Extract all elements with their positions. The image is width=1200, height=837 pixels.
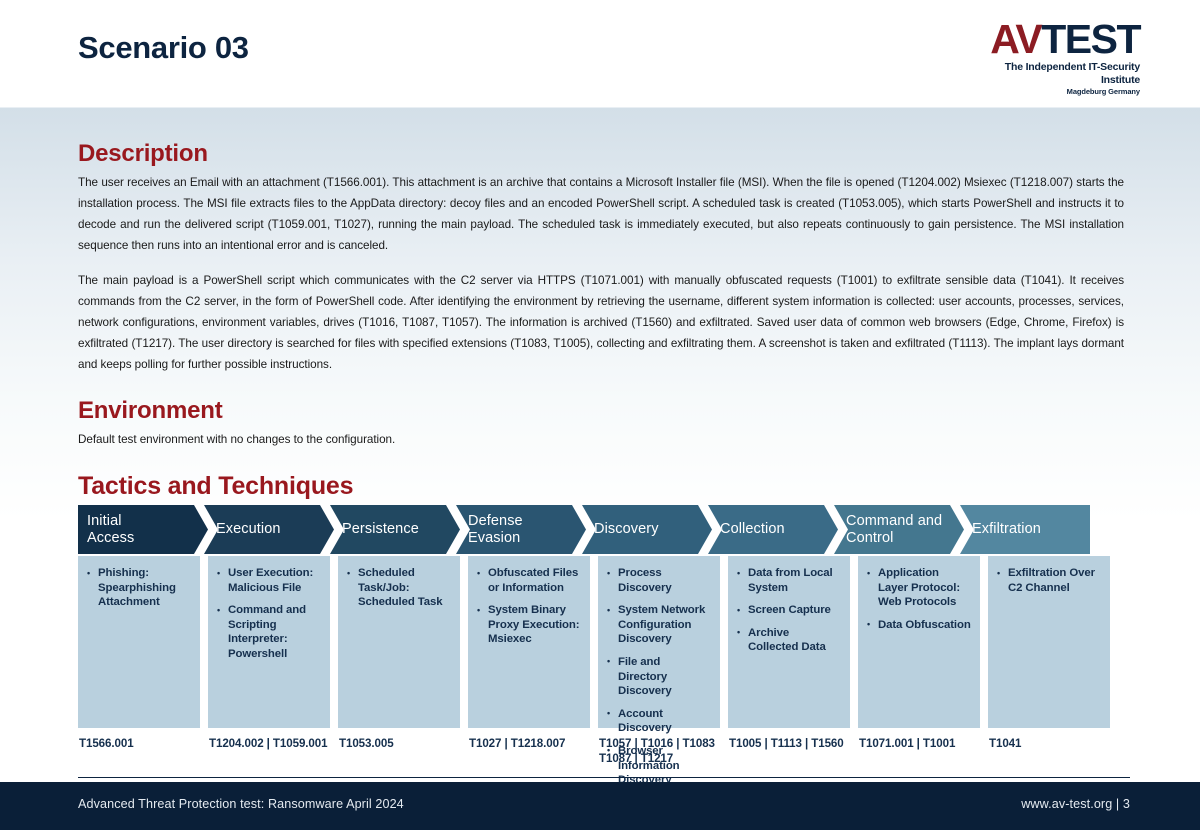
tactic-banner-defense-evasion: Defense Evasion [456, 505, 586, 554]
technique-list: User Execution: Malicious FileCommand an… [217, 566, 321, 662]
techniques-column: User Execution: Malicious FileCommand an… [208, 556, 330, 728]
tactics-and-techniques-table: Initial AccessExecutionPersistenceDefens… [78, 505, 1130, 774]
report-page: Scenario 03 AVTEST The Independent IT-Se… [0, 0, 1200, 837]
technique-item: System Binary Proxy Execution: Msiexec [477, 603, 581, 647]
techniques-column: Data from Local SystemScreen CaptureArch… [728, 556, 850, 728]
techniques-column: Obfuscated Files or InformationSystem Bi… [468, 556, 590, 728]
logo-av-text: AV [990, 16, 1041, 62]
tactic-banner-discovery: Discovery [582, 505, 712, 554]
technique-list: Data from Local SystemScreen CaptureArch… [737, 566, 841, 655]
spacer [78, 375, 1124, 397]
footer-bottom-strip [0, 830, 1200, 837]
technique-list: Application Layer Protocol: Web Protocol… [867, 566, 971, 632]
page-footer: Advanced Threat Protection test: Ransomw… [0, 782, 1200, 830]
environment-heading: Environment [78, 397, 1124, 425]
technique-item: Process Discovery [607, 566, 711, 595]
column-gap [850, 556, 858, 728]
tactics-banner-row: Initial AccessExecutionPersistenceDefens… [78, 505, 1130, 554]
tactic-banner-command-and-control: Command and Control [834, 505, 964, 554]
tactic-banner-label: Persistence [342, 521, 419, 538]
technique-item: File and Directory Discovery [607, 655, 711, 699]
tactic-banner-label: Initial Access [87, 513, 134, 546]
technique-ids: T1027 | T1218.007 [468, 736, 590, 774]
technique-list: Exfiltration Over C2 Channel [997, 566, 1101, 595]
technique-list: Phishing: Spearphishing Attachment [87, 566, 191, 610]
technique-list: Obfuscated Files or InformationSystem Bi… [477, 566, 581, 647]
column-gap [200, 556, 208, 728]
av-test-logo: AVTEST The Independent IT-Security Insti… [965, 18, 1140, 97]
tactic-banner-label: Execution [216, 521, 281, 538]
footer-url-page[interactable]: www.av-test.org | 3 [1021, 797, 1130, 811]
logo-test-text: TEST [1041, 16, 1140, 62]
tactic-banner-initial-access: Initial Access [78, 505, 208, 554]
id-gap [980, 736, 988, 774]
tactic-banner-persistence: Persistence [330, 505, 460, 554]
technique-item: Data from Local System [737, 566, 841, 595]
spacer [78, 450, 1124, 472]
technique-item: System Network Configuration Discovery [607, 603, 711, 647]
page-title: Scenario 03 [78, 30, 249, 66]
column-gap [330, 556, 338, 728]
logo-tagline: The Independent IT-Security Institute [965, 61, 1140, 87]
technique-list: Scheduled Task/Job: Scheduled Task [347, 566, 451, 610]
tactic-banner-exfiltration: Exfiltration [960, 505, 1090, 554]
id-gap [720, 736, 728, 774]
technique-ids: T1566.001 [78, 736, 200, 774]
technique-ids: T1041 [988, 736, 1110, 774]
environment-text: Default test environment with no changes… [78, 429, 1124, 450]
description-paragraph-1: The user receives an Email with an attac… [78, 172, 1124, 256]
id-gap [330, 736, 338, 774]
tactic-banner-label: Command and Control [846, 513, 942, 546]
technique-item: User Execution: Malicious File [217, 566, 321, 595]
tactics-heading: Tactics and Techniques [78, 472, 1124, 501]
technique-item: Archive Collected Data [737, 626, 841, 655]
tactic-banner-label: Exfiltration [972, 521, 1041, 538]
footer-test-name: Advanced Threat Protection test: Ransomw… [78, 797, 404, 811]
column-gap [460, 556, 468, 728]
techniques-column: Application Layer Protocol: Web Protocol… [858, 556, 980, 728]
technique-ids-row: T1566.001T1204.002 | T1059.001T1053.005T… [78, 736, 1130, 774]
technique-ids: T1005 | T1113 | T1560 [728, 736, 850, 774]
technique-item: Data Obfuscation [867, 618, 971, 633]
tactic-banner-label: Collection [720, 521, 785, 538]
tactic-banner-execution: Execution [204, 505, 334, 554]
logo-location: Magdeburg Germany [965, 87, 1140, 97]
logo-wordmark: AVTEST [965, 18, 1140, 60]
techniques-columns-row: Phishing: Spearphishing AttachmentUser E… [78, 556, 1130, 728]
description-heading: Description [78, 140, 1124, 168]
id-gap [850, 736, 858, 774]
technique-item: Phishing: Spearphishing Attachment [87, 566, 191, 610]
technique-ids: T1053.005 [338, 736, 460, 774]
description-paragraph-2: The main payload is a PowerShell script … [78, 270, 1124, 375]
tactic-banner-label: Defense Evasion [468, 513, 523, 546]
technique-item: Screen Capture [737, 603, 841, 618]
column-gap [590, 556, 598, 728]
technique-item: Scheduled Task/Job: Scheduled Task [347, 566, 451, 610]
table-bottom-rule [78, 777, 1130, 778]
id-gap [460, 736, 468, 774]
technique-ids: T1204.002 | T1059.001 [208, 736, 330, 774]
column-gap [980, 556, 988, 728]
page-header: Scenario 03 AVTEST The Independent IT-Se… [0, 0, 1200, 107]
techniques-column: Phishing: Spearphishing Attachment [78, 556, 200, 728]
technique-item: Application Layer Protocol: Web Protocol… [867, 566, 971, 610]
technique-ids: T1071.001 | T1001 [858, 736, 980, 774]
technique-item: Exfiltration Over C2 Channel [997, 566, 1101, 595]
techniques-column: Scheduled Task/Job: Scheduled Task [338, 556, 460, 728]
techniques-column: Exfiltration Over C2 Channel [988, 556, 1110, 728]
technique-item: Account Discovery [607, 707, 711, 736]
id-gap [590, 736, 598, 774]
techniques-column: Process DiscoverySystem Network Configur… [598, 556, 720, 728]
document-body: Description The user receives an Email w… [78, 140, 1124, 505]
tactic-banner-label: Discovery [594, 521, 659, 538]
technique-ids: T1057 | T1016 | T1083 T1087 | T1217 [598, 736, 720, 774]
id-gap [200, 736, 208, 774]
column-gap [720, 556, 728, 728]
technique-item: Obfuscated Files or Information [477, 566, 581, 595]
tactic-banner-collection: Collection [708, 505, 838, 554]
technique-item: Command and Scripting Interpreter: Power… [217, 603, 321, 661]
